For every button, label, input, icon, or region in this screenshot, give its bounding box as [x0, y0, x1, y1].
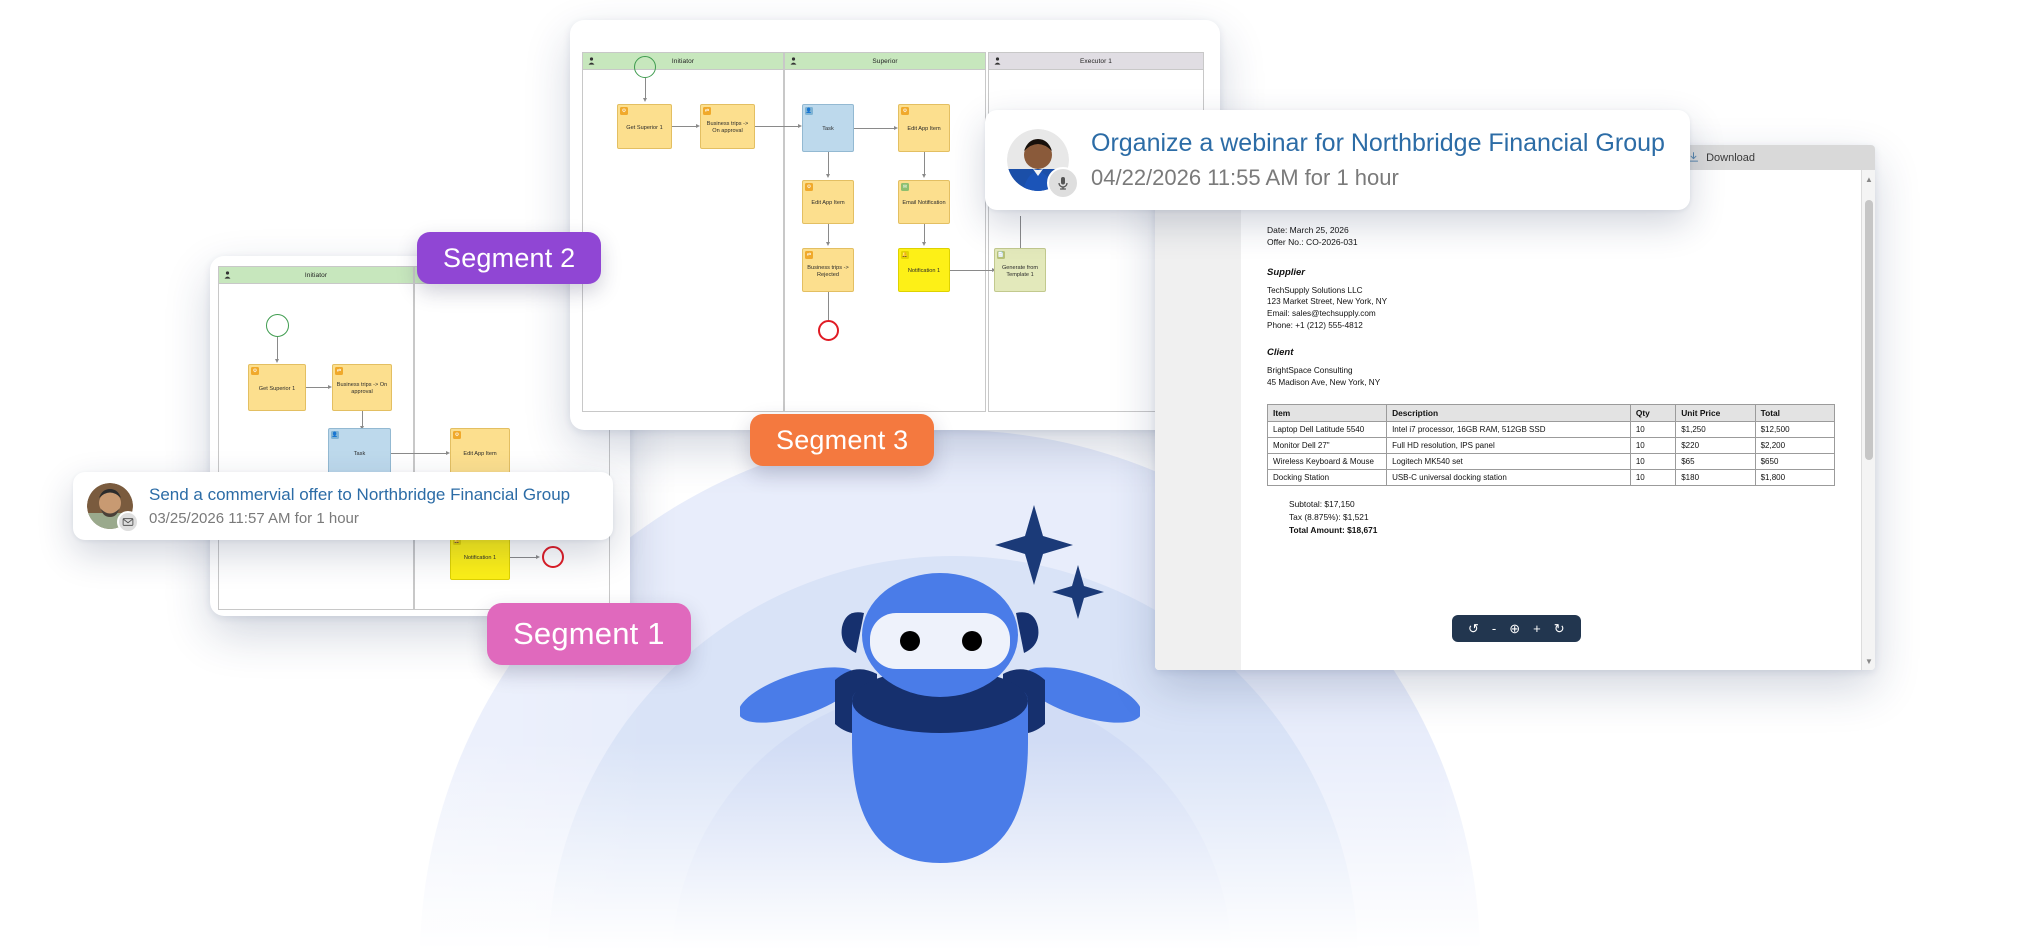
cell-unit-price: $220 — [1676, 438, 1755, 454]
bpmn-node-label: Edit App Item — [463, 451, 496, 458]
column-header-unit-price: Unit Price — [1676, 405, 1755, 422]
supplier-line: 123 Market Street, New York, NY — [1267, 296, 1835, 308]
avatar — [87, 483, 133, 529]
download-label: Download — [1706, 152, 1755, 164]
bpmn-lane-label: Initiator — [305, 272, 327, 279]
bpmn-node-email-notification[interactable]: ✉ Email Notification — [898, 180, 950, 224]
bpmn-node-task[interactable]: 👤 Task — [802, 104, 854, 152]
bpmn-node-label: Get Superior 1 — [259, 386, 295, 393]
avatar — [1007, 129, 1069, 191]
bpmn-arrowhead — [536, 555, 540, 559]
cell-item: Wireless Keyboard & Mouse — [1268, 454, 1387, 470]
segment-3-window: Initiator Superior Executor 1 — [570, 20, 1220, 430]
bpmn-connector — [854, 128, 896, 129]
table-row: Monitor Dell 27" Full HD resolution, IPS… — [1268, 438, 1835, 454]
person-icon — [224, 271, 231, 279]
column-header-description: Description — [1387, 405, 1631, 422]
document-page: Office Equipment Supply Date: March 25, … — [1241, 170, 1861, 670]
cell-item: Monitor Dell 27" — [1268, 438, 1387, 454]
bpmn-arrowhead — [922, 174, 926, 178]
cell-description: Full HD resolution, IPS panel — [1387, 438, 1631, 454]
envelope-badge — [117, 511, 139, 533]
document-zoom-controls[interactable]: ↺ - ⊕ + ↻ — [1452, 615, 1581, 642]
robot-mascot — [740, 505, 1140, 895]
envelope-icon — [122, 516, 134, 528]
bpmn-connector — [950, 270, 994, 271]
tax-line: Tax (8.875%): $1,521 — [1289, 511, 1835, 524]
cell-item: Docking Station — [1268, 470, 1387, 486]
bpmn-arrowhead — [826, 242, 830, 246]
segment-badge-label: Segment 3 — [776, 425, 908, 456]
status-change-icon: ⇄ — [335, 367, 343, 375]
cell-qty: 10 — [1630, 454, 1675, 470]
bpmn-node-edit-app-item-2[interactable]: ⚙ Edit App Item — [802, 180, 854, 224]
zoom-in-icon[interactable]: ⊕ — [1509, 622, 1520, 635]
bpmn-lane-header: Executor 1 — [989, 53, 1203, 70]
bpmn-node-label: Notification 1 — [908, 268, 940, 275]
bpmn-connector — [306, 387, 330, 388]
bpmn-node-task[interactable]: 👤 Task — [328, 428, 391, 477]
supplier-line: TechSupply Solutions LLC — [1267, 285, 1835, 297]
document-scrollbar[interactable]: ▲ ▼ — [1861, 170, 1875, 670]
client-line: BrightSpace Consulting — [1267, 365, 1835, 377]
subtotal-line: Subtotal: $17,150 — [1289, 498, 1835, 511]
scrollbar-thumb[interactable] — [1865, 200, 1873, 460]
person-icon — [588, 57, 595, 65]
status-change-icon: ⇄ — [703, 107, 711, 115]
bpmn-node-edit-app-item[interactable]: ⚙ Edit App Item — [450, 428, 510, 477]
cell-description: Intel i7 processor, 16GB RAM, 512GB SSD — [1387, 422, 1631, 438]
cell-total: $650 — [1755, 454, 1834, 470]
zoom-in-button[interactable]: + — [1533, 622, 1541, 635]
download-button[interactable]: Download — [1687, 151, 1755, 164]
bpmn-node-business-trips-approval[interactable]: ⇄ Business trips -> On approval — [332, 364, 392, 411]
cell-total: $1,800 — [1755, 470, 1834, 486]
cell-qty: 10 — [1630, 470, 1675, 486]
screenshot-root: Initiator Superior ⚙ Get Superior 1 — [0, 0, 2040, 950]
client-details: BrightSpace Consulting 45 Madison Ave, N… — [1267, 365, 1835, 388]
table-row: Wireless Keyboard & Mouse Logitech MK540… — [1268, 454, 1835, 470]
bpmn-connector — [1020, 216, 1021, 248]
document-panel-window: Share Download Office Equipment Supply D… — [1155, 145, 1875, 670]
microphone-icon — [1055, 175, 1071, 191]
notification-card-webinar[interactable]: Organize a webinar for Northbridge Finan… — [985, 110, 1690, 210]
bpmn-end-event — [542, 546, 564, 568]
cell-total: $2,200 — [1755, 438, 1834, 454]
scroll-up-arrow-icon[interactable]: ▲ — [1862, 172, 1875, 186]
gear-icon: ⚙ — [453, 431, 461, 439]
notification-title: Send a commervial offer to Northbridge F… — [149, 485, 570, 505]
bpmn-arrowhead — [643, 98, 647, 102]
cell-unit-price: $180 — [1676, 470, 1755, 486]
bpmn-node-get-superior[interactable]: ⚙ Get Superior 1 — [617, 104, 672, 149]
gear-icon: ⚙ — [251, 367, 259, 375]
cell-item: Laptop Dell Latitude 5540 — [1268, 422, 1387, 438]
offer-items-table: Item Description Qty Unit Price Total La… — [1267, 404, 1835, 486]
bpmn-node-label: Business trips -> On approval — [703, 121, 752, 135]
cell-description: USB-C universal docking station — [1387, 470, 1631, 486]
client-line: 45 Madison Ave, New York, NY — [1267, 377, 1835, 389]
person-icon: 👤 — [331, 431, 339, 439]
supplier-line: Phone: +1 (212) 555-4812 — [1267, 320, 1835, 332]
bpmn-end-event — [818, 320, 839, 341]
bpmn-canvas-segment-3: Initiator Superior Executor 1 — [570, 20, 1220, 430]
bpmn-node-get-superior[interactable]: ⚙ Get Superior 1 — [248, 364, 306, 411]
segment-1-window: Initiator Superior ⚙ Get Superior 1 — [210, 256, 630, 616]
segment-badge-label: Segment 1 — [513, 616, 665, 652]
bpmn-node-edit-app-item[interactable]: ⚙ Edit App Item — [898, 104, 950, 152]
bpmn-node-label: Generate from Template 1 — [997, 265, 1043, 279]
bpmn-lane-label: Executor 1 — [1080, 58, 1112, 65]
document-offer-no: Offer No.: CO-2026-031 — [1267, 236, 1835, 248]
bpmn-connector — [828, 292, 829, 320]
bpmn-node-label: Edit App Item — [907, 126, 940, 133]
bpmn-lane-header: Initiator — [583, 53, 783, 70]
cell-total: $12,500 — [1755, 422, 1834, 438]
bpmn-connector — [645, 78, 646, 100]
client-heading: Client — [1267, 347, 1835, 358]
bpmn-connector — [510, 557, 538, 558]
bpmn-node-generate-from-template[interactable]: 📄 Generate from Template 1 — [994, 248, 1046, 292]
bpmn-connector — [828, 224, 829, 244]
bpmn-node-label: Notification 1 — [464, 555, 496, 562]
document-date: Date: March 25, 2026 — [1267, 224, 1835, 236]
document-body: Office Equipment Supply Date: March 25, … — [1155, 170, 1861, 670]
bpmn-canvas-segment-1: Initiator Superior ⚙ Get Superior 1 — [210, 256, 630, 616]
document-meta: Date: March 25, 2026 Offer No.: CO-2026-… — [1267, 224, 1835, 249]
bell-icon: 🔔 — [901, 251, 909, 259]
bpmn-connector — [755, 126, 800, 127]
sparkle-small-icon — [1052, 565, 1104, 619]
bpmn-node-label: Business trips -> Rejected — [805, 265, 851, 279]
bpmn-node-notification-1[interactable]: 🔔 Notification 1 — [898, 248, 950, 292]
bpmn-node-label: Business trips -> On approval — [335, 382, 389, 396]
bpmn-node-label: Task — [822, 126, 834, 133]
notification-text: Organize a webinar for Northbridge Finan… — [1091, 129, 1665, 191]
bpmn-arrowhead — [922, 242, 926, 246]
bpmn-connector — [924, 224, 925, 244]
bpmn-arrowhead — [826, 174, 830, 178]
column-header-item: Item — [1268, 405, 1387, 422]
segment-badge-2[interactable]: Segment 2 — [417, 232, 601, 284]
zoom-out-button[interactable]: - — [1492, 622, 1496, 635]
table-header-row: Item Description Qty Unit Price Total — [1268, 405, 1835, 422]
notification-card-email[interactable]: Send a commervial offer to Northbridge F… — [73, 472, 613, 540]
cell-qty: 10 — [1630, 438, 1675, 454]
microphone-badge — [1047, 167, 1079, 199]
status-change-icon: ⇄ — [805, 251, 813, 259]
segment-badge-label: Segment 2 — [443, 243, 575, 274]
bpmn-node-business-trips-approval[interactable]: ⇄ Business trips -> On approval — [700, 104, 755, 149]
column-header-qty: Qty — [1630, 405, 1675, 422]
gear-icon: ⚙ — [901, 107, 909, 115]
bpmn-lane-label: Superior — [872, 58, 897, 65]
person-icon — [994, 57, 1001, 65]
bpmn-node-notification-1[interactable]: 🔔 Notification 1 — [450, 534, 510, 580]
table-row: Laptop Dell Latitude 5540 Intel i7 proce… — [1268, 422, 1835, 438]
bpmn-node-label: Task — [354, 451, 366, 458]
redo-icon[interactable]: ↻ — [1554, 622, 1565, 635]
person-icon: 👤 — [805, 107, 813, 115]
bpmn-arrowhead — [275, 359, 279, 363]
column-header-total: Total — [1755, 405, 1834, 422]
gear-icon: ⚙ — [805, 183, 813, 191]
cell-description: Logitech MK540 set — [1387, 454, 1631, 470]
notification-text: Send a commervial offer to Northbridge F… — [149, 485, 570, 527]
bpmn-connector — [277, 337, 278, 361]
bpmn-connector — [828, 152, 829, 176]
bpmn-node-label: Email Notification — [902, 200, 945, 207]
segment-badge-3[interactable]: Segment 3 — [750, 414, 934, 466]
segment-badge-1[interactable]: Segment 1 — [487, 603, 691, 665]
doc-icon: 📄 — [997, 251, 1005, 259]
table-row: Docking Station USB-C universal docking … — [1268, 470, 1835, 486]
notification-subtitle: 04/22/2026 11:55 AM for 1 hour — [1091, 165, 1665, 191]
bpmn-start-event — [266, 314, 289, 337]
bpmn-lane-header: Superior — [785, 53, 985, 70]
mail-icon: ✉ — [901, 183, 909, 191]
supplier-heading: Supplier — [1267, 267, 1835, 278]
document-totals: Subtotal: $17,150 Tax (8.875%): $1,521 T… — [1289, 498, 1835, 536]
supplier-details: TechSupply Solutions LLC 123 Market Stre… — [1267, 285, 1835, 332]
notification-title: Organize a webinar for Northbridge Finan… — [1091, 129, 1665, 158]
bpmn-connector — [391, 453, 448, 454]
cell-unit-price: $1,250 — [1676, 422, 1755, 438]
supplier-line: Email: sales@techsupply.com — [1267, 308, 1835, 320]
cell-qty: 10 — [1630, 422, 1675, 438]
bpmn-node-business-trips-rejected[interactable]: ⇄ Business trips -> Rejected — [802, 248, 854, 292]
person-icon — [790, 57, 797, 65]
gear-icon: ⚙ — [620, 107, 628, 115]
bpmn-node-label: Edit App Item — [811, 200, 844, 207]
bpmn-connector — [924, 152, 925, 176]
bpmn-lane-header: Initiator — [219, 267, 413, 284]
scroll-down-arrow-icon[interactable]: ▼ — [1862, 654, 1875, 668]
bpmn-lane-label: Initiator — [672, 58, 694, 65]
bpmn-node-label: Get Superior 1 — [626, 125, 662, 132]
total-amount-line: Total Amount: $18,671 — [1289, 524, 1835, 537]
cell-unit-price: $65 — [1676, 454, 1755, 470]
bpmn-start-event — [634, 56, 656, 78]
undo-icon[interactable]: ↺ — [1468, 622, 1479, 635]
bpmn-connector — [672, 126, 698, 127]
notification-subtitle: 03/25/2026 11:57 AM for 1 hour — [149, 510, 570, 527]
